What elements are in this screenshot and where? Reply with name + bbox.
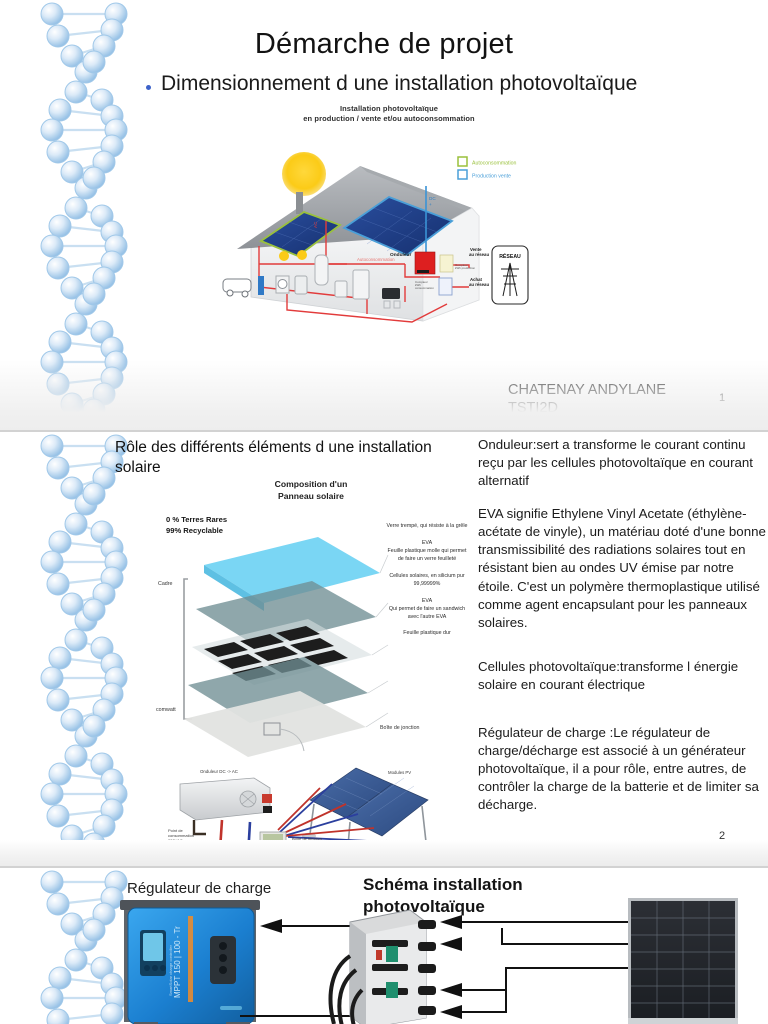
layer-label-1: EVA Feuille plastique molle qui permet d… xyxy=(384,540,470,564)
slide-2-text-column: Onduleur:sert a transforme le courant co… xyxy=(478,436,768,829)
layer-label-0: Verre trempé, qui résiste à la grêle xyxy=(384,523,470,531)
svg-text:au réseau: au réseau xyxy=(469,282,489,287)
author-name: CHATENAY ANDYLANE xyxy=(508,381,666,399)
svg-text:SmartSolar charge controller: SmartSolar charge controller xyxy=(168,944,173,996)
panel-composition-figure: Composition d'un Panneau solaire 0 % Ter… xyxy=(152,477,470,862)
panel-caption-line-1: Composition d'un xyxy=(152,479,470,491)
text-eva: EVA signifie Ethylene Vinyl Acetate (éth… xyxy=(478,505,768,632)
layer-backsheet xyxy=(184,691,366,757)
frame-label: Cadre xyxy=(158,581,172,587)
house-caption-line-2: en production / vente et/ou autoconsomma… xyxy=(207,114,571,124)
combiner-box xyxy=(331,910,436,1024)
slide-1-subtitle: Dimensionnement d une installation photo… xyxy=(161,72,637,97)
slide-1-page-number: 1 xyxy=(719,392,725,404)
svg-text:12V DC: 12V DC xyxy=(292,841,306,846)
svg-text:Onduleur DC -> AC: Onduleur DC -> AC xyxy=(200,769,238,774)
sun-icon xyxy=(282,152,326,196)
text-onduleur: Onduleur:sert a transforme le courant co… xyxy=(478,436,768,490)
svg-text:AC: AC xyxy=(313,221,318,228)
layer-label-3: EVA Qui permet de faire un sandwich avec… xyxy=(384,598,470,622)
svg-text:DC: DC xyxy=(429,196,436,201)
slide-1: Démarche de projet Dimensionnement d une… xyxy=(0,0,768,430)
bullet-dot-icon xyxy=(146,85,151,90)
svg-text:RÉSEAU: RÉSEAU xyxy=(499,252,521,260)
device-model-text: MPPT 150 | 100 - Tr xyxy=(173,926,182,998)
text-regulateur: Régulateur de charge :Le régulateur de c… xyxy=(478,724,768,814)
svg-text:220VAC: 220VAC xyxy=(168,838,183,843)
house-diagram-caption: Installation photovoltaïque en productio… xyxy=(207,100,571,124)
svg-text:au réseau: au réseau xyxy=(469,252,489,257)
slide-1-bullet-row: Dimensionnement d une installation photo… xyxy=(146,72,746,97)
svg-text:+: + xyxy=(429,202,432,207)
document-scroll-view[interactable]: Démarche de projet Dimensionnement d une… xyxy=(0,0,768,1024)
offgrid-system-art: Onduleur DC -> AC Point de consommation … xyxy=(160,764,465,866)
panel-layer-labels: Verre trempé, qui résiste à la grêle EVA… xyxy=(384,523,470,647)
brand-label: comwatt xyxy=(156,707,176,713)
layer-label-2: Cellules solaires, en silicium pur 99,99… xyxy=(384,573,470,589)
mppt-charge-controller: MPPT 150 | 100 - Tr SmartSolar charge co… xyxy=(120,900,260,1024)
house-pv-diagram: Installation photovoltaïque en productio… xyxy=(207,100,571,358)
author-class: TSTI2D xyxy=(508,399,666,417)
dna-decoration xyxy=(28,0,146,430)
slide-3-schema-art: MPPT 150 | 100 - Tr SmartSolar charge co… xyxy=(110,886,768,1024)
text-cellules: Cellules photovoltaïque:transforme l éne… xyxy=(478,658,768,694)
junction-box-label: Boîte de jonction xyxy=(380,725,419,731)
layer-label-4: Feuille plastique dur xyxy=(384,630,470,638)
slide-2-page-number: 2 xyxy=(719,830,725,842)
panel-arrows xyxy=(462,922,630,1012)
slide-3: Régulateur de charge Schéma installation… xyxy=(0,868,768,1024)
dna-decoration-2 xyxy=(28,432,146,866)
svg-text:Production vente: Production vente xyxy=(472,174,511,180)
solar-panel-module xyxy=(628,898,738,1024)
house-caption-line-1: Installation photovoltaïque xyxy=(207,104,571,114)
house-diagram-art: Autoconsommation Production vente xyxy=(207,124,571,352)
author-block: CHATENAY ANDYLANE TSTI2D xyxy=(508,381,666,417)
diagram-legend: Autoconsommation Production vente xyxy=(458,157,517,180)
battery: Batteries xyxy=(300,851,380,866)
svg-text:kWh production: kWh production xyxy=(455,266,475,270)
svg-text:Onduleur: Onduleur xyxy=(390,252,411,258)
svg-text:Modules PV: Modules PV xyxy=(388,770,411,775)
slide-1-title: Démarche de projet xyxy=(0,28,768,61)
slide-2-title: Rôle des différents éléments d une insta… xyxy=(115,438,460,478)
charge-controller: Régulateur de charge xyxy=(194,862,252,866)
svg-text:Autoconsommation: Autoconsommation xyxy=(472,161,517,167)
svg-text:consommation: consommation xyxy=(415,286,434,290)
slide-2: Rôle des différents éléments d une insta… xyxy=(0,432,768,866)
